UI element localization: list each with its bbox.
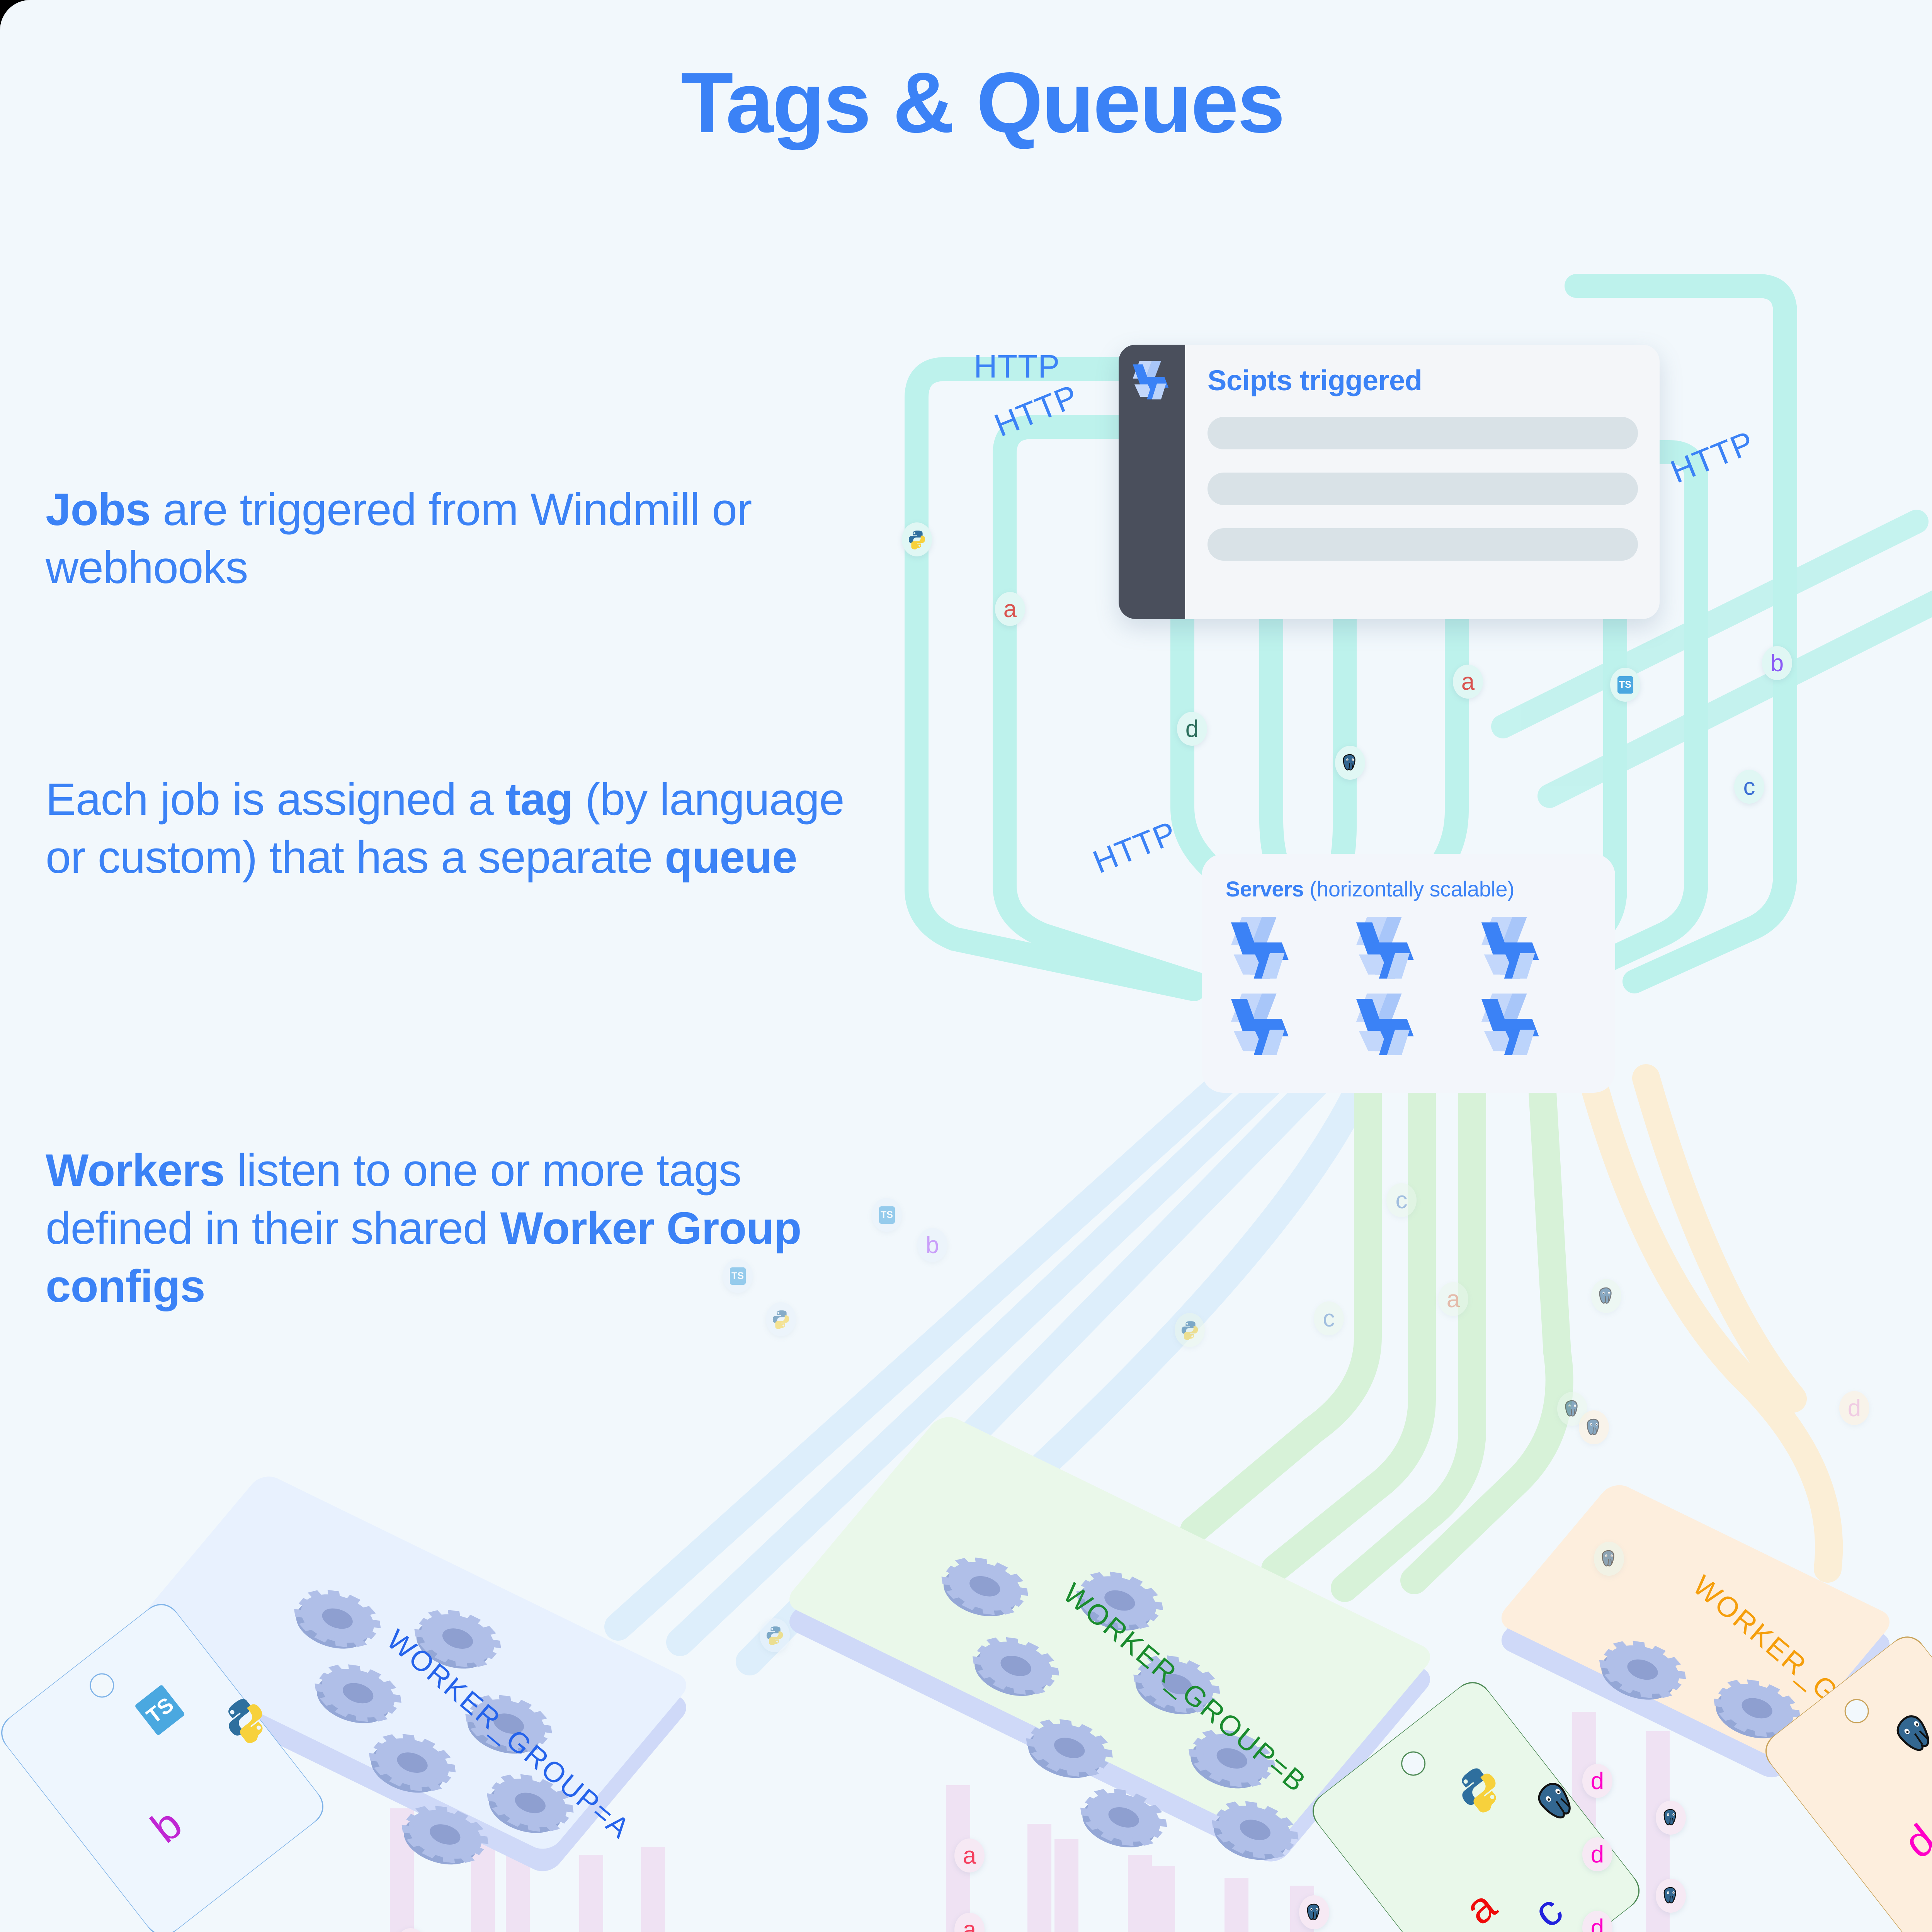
pipe-badge-postgresql-icon <box>1656 1801 1686 1835</box>
pipe-badge-letter-d: d <box>1177 712 1207 746</box>
badge-letter: c <box>1743 773 1755 801</box>
windmill-logo-icon <box>1351 913 1420 983</box>
python-icon <box>771 1309 791 1329</box>
pipe-badge-typescript-icon: TS <box>872 1198 902 1232</box>
infographic-canvas: Tags & Queues Jobs are triggered from Wi… <box>0 0 1932 1932</box>
windmill-logo-icon <box>1130 359 1172 402</box>
pipe-badge-postgresql-icon <box>1335 746 1365 780</box>
windmill-logo-icon <box>1351 990 1420 1059</box>
postgresql-icon <box>1304 1903 1324 1922</box>
gear-icon <box>275 1577 394 1667</box>
pipe-badge-letter-a: a <box>1453 665 1483 699</box>
servers-label-rest: (horizontally scalable) <box>1304 877 1514 901</box>
pipe-badge-python-icon <box>902 522 932 556</box>
gear-icon <box>1581 1628 1699 1717</box>
app-sidebar-rail <box>1119 345 1185 619</box>
postgresql-icon <box>1597 1286 1616 1306</box>
http-label: HTTP <box>974 348 1060 385</box>
gear-icon <box>1580 1628 1699 1718</box>
pipe-badge-typescript-icon: TS <box>723 1259 753 1293</box>
badge-letter: d <box>1185 715 1199 743</box>
pipe-badge-python-icon <box>760 1618 790 1652</box>
copy-block-jobs: Jobs are triggered from Windmill or webh… <box>46 481 857 597</box>
gear-icon <box>922 1545 1041 1635</box>
postgresql-icon <box>1599 1549 1619 1568</box>
skeleton-row <box>1207 473 1638 505</box>
pipe-badge-python-icon <box>1175 1313 1205 1347</box>
copy-block-tags: Each job is assigned a tag (by language … <box>46 771 896 887</box>
skeleton-row <box>1207 528 1638 561</box>
python-icon <box>1180 1320 1200 1340</box>
windmill-logo-icon <box>1476 913 1546 983</box>
pipe-badge-letter-d: d <box>1839 1391 1869 1425</box>
badge-letter: d <box>1591 1767 1604 1795</box>
postgresql-icon <box>1584 1418 1604 1437</box>
servers-label-bold: Servers <box>1226 877 1304 901</box>
python-icon <box>907 529 927 549</box>
gear-icon <box>1192 1788 1311 1879</box>
postgresql-icon <box>1563 1399 1582 1418</box>
copy-block-workers: Workers listen to one or more tags defin… <box>46 1142 876 1316</box>
pipe-badge-letter-a: a <box>1438 1282 1468 1316</box>
pipe-badge-letter-d: d <box>1582 1837 1612 1871</box>
pipe-badge-postgresql-icon <box>1299 1895 1329 1929</box>
badge-letter: a <box>963 1916 976 1932</box>
badge-letter: a <box>963 1842 976 1869</box>
gear-icon <box>276 1577 394 1666</box>
badge-letter: b <box>926 1231 939 1259</box>
badge-letter: a <box>1003 595 1017 623</box>
pipe-badge-postgresql-icon <box>1656 1879 1686 1913</box>
servers-label: Servers (horizontally scalable) <box>1202 876 1615 901</box>
badge-letter: a <box>1447 1286 1460 1313</box>
scripts-card-title: Scipts triggered <box>1207 364 1638 397</box>
page-title: Tags & Queues <box>0 60 1932 146</box>
badge-letter: c <box>1323 1305 1335 1332</box>
badge-letter: a <box>1461 668 1475 696</box>
scripts-card-body: Scipts triggered <box>1185 345 1660 619</box>
pipe-badge-letter-b: b <box>917 1228 947 1262</box>
pipe-badge-typescript-icon: TS <box>1610 668 1640 702</box>
scripts-triggered-card[interactable]: Scipts triggered <box>1119 345 1660 619</box>
servers-box: Servers (horizontally scalable) <box>1202 854 1615 1093</box>
python-icon <box>765 1625 785 1645</box>
badge-letter: b <box>1770 650 1784 677</box>
pipe-badge-letter-a: a <box>995 592 1025 626</box>
typescript-icon: TS <box>730 1267 746 1285</box>
pipe-badge-python-icon <box>766 1302 796 1336</box>
pipe-badge-postgresql-icon <box>1591 1279 1621 1313</box>
typescript-icon: TS <box>1617 676 1633 694</box>
pipe-badge-letter-c: c <box>1734 770 1764 804</box>
postgresql-icon <box>1661 1808 1680 1827</box>
servers-grid <box>1202 901 1615 1059</box>
badge-letter: d <box>1848 1395 1861 1422</box>
pipe-badge-letter-b: b <box>1762 646 1792 680</box>
postgresql-icon <box>1661 1886 1680 1905</box>
pipe-badge-letter-d: d <box>1582 1764 1612 1798</box>
windmill-logo-icon <box>1476 990 1546 1059</box>
pipe-badge-letter-c: c <box>1386 1183 1417 1217</box>
badge-letter: d <box>1591 1841 1604 1868</box>
pipe-badge-letter-a: a <box>954 1838 985 1872</box>
gear-icon <box>923 1545 1041 1634</box>
typescript-icon: TS <box>879 1206 895 1224</box>
pipe-badge-postgresql-icon <box>1579 1410 1609 1444</box>
pipe-badge-postgresql-icon <box>1594 1542 1624 1576</box>
pipe-badge-letter-c: c <box>1314 1301 1344 1335</box>
badge-letter: d <box>1591 1914 1604 1932</box>
postgresql-icon <box>1340 753 1360 772</box>
badge-letter: c <box>1396 1187 1408 1214</box>
skeleton-row <box>1207 417 1638 449</box>
windmill-logo-icon <box>1226 990 1295 1059</box>
skeleton-row-list <box>1207 417 1638 561</box>
gear-icon <box>1194 1788 1312 1877</box>
windmill-logo-icon <box>1226 913 1295 983</box>
